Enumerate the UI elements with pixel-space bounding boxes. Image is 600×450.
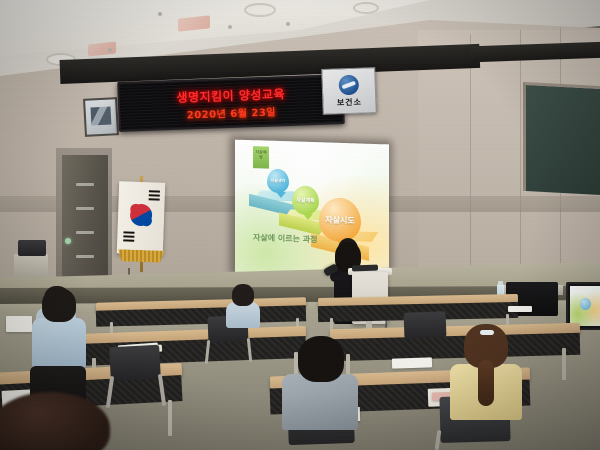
led-banner: 생명지킴이 양성교육 2020년 6월 23일 [117, 74, 345, 132]
government-emblem-icon [338, 74, 359, 95]
slide-caption: 자살에 이르는 과정 [253, 232, 319, 245]
attendee-torso [32, 318, 86, 368]
attendee-hair [232, 284, 254, 306]
projector-icon [18, 240, 46, 256]
projection-screen: 자살예방 자살생각 자살계획 자살시도 자살에 이르는 과정 [235, 140, 389, 278]
slide-bubble-2: 자살계획 [292, 185, 319, 215]
paper-stack [508, 306, 532, 312]
stacking-chair[interactable] [404, 311, 447, 338]
ceiling-light [353, 2, 379, 14]
sprinkler-head [108, 48, 112, 52]
ceiling-light [244, 3, 276, 17]
attendee-hair [42, 288, 76, 322]
monitor-slide-bubble [580, 298, 591, 310]
flag-fringe [118, 249, 164, 263]
table-leg [168, 400, 172, 436]
sprinkler-head [286, 22, 290, 26]
attendee-ponytail [478, 360, 494, 406]
slide-bubble-3: 자살시도 [319, 197, 361, 242]
monitor-screen [570, 286, 600, 326]
health-center-sign: 보건소 [321, 67, 377, 115]
wall-seam [520, 30, 521, 280]
table-leg [562, 348, 566, 380]
door-handle[interactable] [65, 238, 71, 244]
seminar-room-photo: 생명지킴이 양성교육 2020년 6월 23일 보건소 자살예방 자살생각 [0, 0, 600, 450]
slide-bubble-1: 자살생각 [267, 169, 289, 194]
bottle-cap [498, 281, 503, 285]
sprinkler-head [158, 12, 162, 16]
attendee-hair [298, 336, 344, 382]
taeguk-symbol-icon [130, 204, 153, 227]
supply-box [6, 316, 32, 332]
notebook [392, 357, 432, 368]
attendee-blue [30, 288, 86, 372]
wall-plaque-icon [83, 97, 119, 137]
slide-tab-label: 자살예방 [255, 149, 267, 159]
stacking-chair[interactable] [109, 345, 161, 382]
wall-seam [470, 34, 471, 282]
av-cart [14, 254, 48, 280]
chalkboard [523, 82, 600, 195]
attendee-grey [282, 336, 358, 424]
attendee-yellow [450, 324, 522, 416]
hair-clip-icon [480, 330, 494, 335]
laptop-icon [352, 265, 378, 272]
korean-flag [117, 181, 165, 255]
slide-content: 자살예방 자살생각 자살계획 자살시도 자살에 이르는 과정 [235, 140, 389, 278]
sprinkler-head [228, 25, 232, 29]
attendee-back-center [226, 284, 260, 326]
entrance-door[interactable] [62, 155, 108, 278]
health-center-label: 보건소 [337, 96, 362, 108]
attendee-torso [282, 374, 358, 430]
